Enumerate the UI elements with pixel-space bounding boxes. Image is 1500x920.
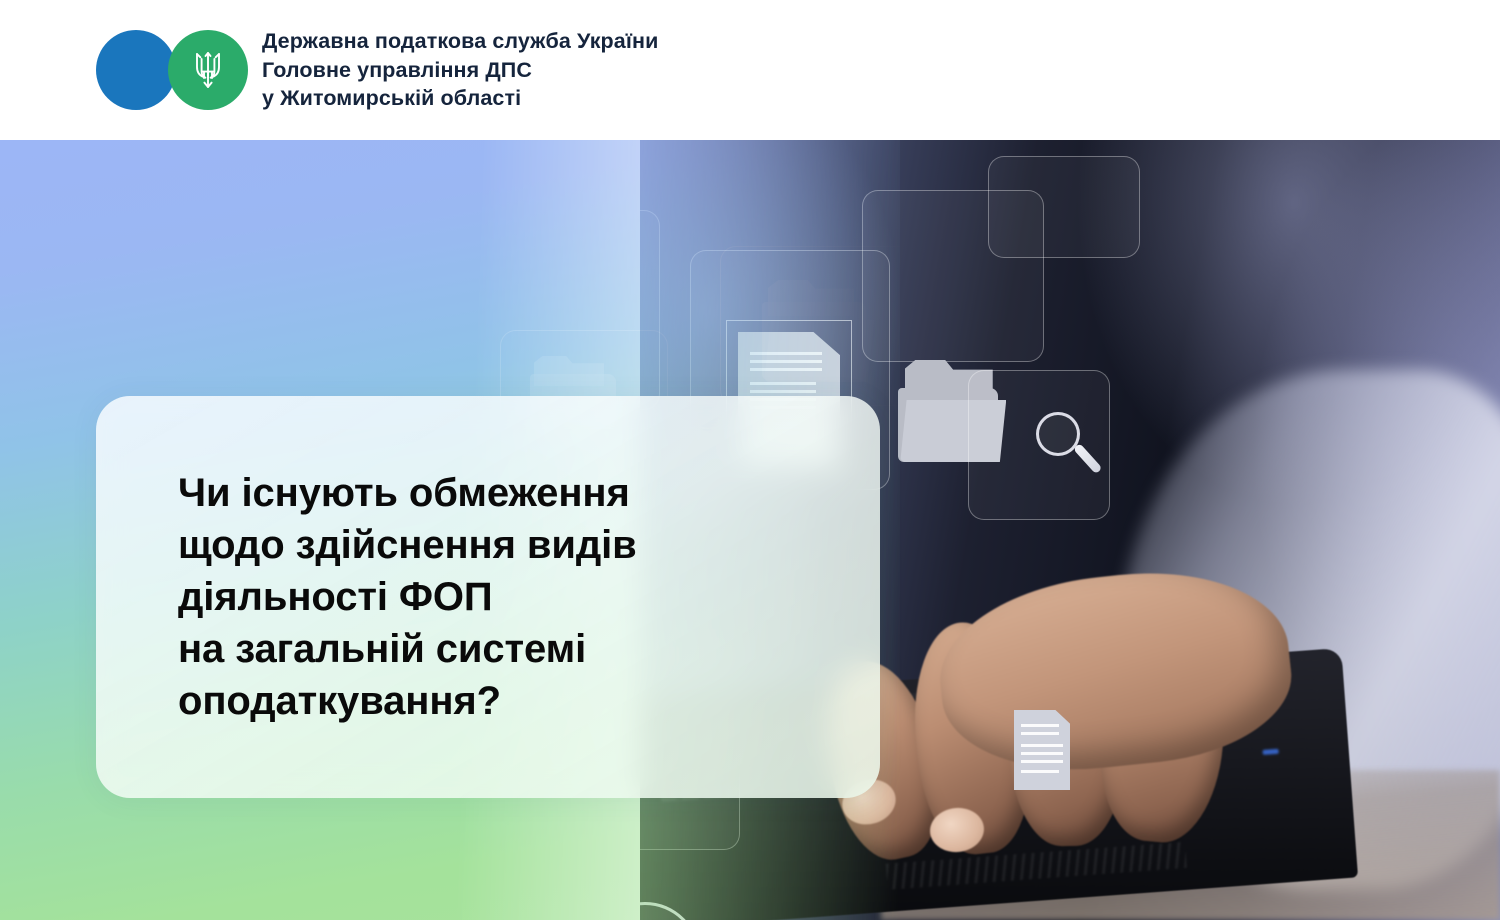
glass-tile [968,370,1110,520]
hero-banner: Чи існують обмеження щодо здійснення вид… [0,140,1500,920]
page-title: Чи існують обмеження щодо здійснення вид… [178,467,637,727]
hand-palm [931,558,1299,784]
banner-page: Державна податкова служба України Головн… [0,0,1500,920]
document-icon [1014,710,1070,790]
logo-green-circle-icon [168,30,248,110]
document-text-lines [1021,770,1059,778]
logo-blue-circle-icon [96,30,176,110]
site-header: Державна податкова служба України Головн… [0,0,1500,140]
document-text-lines [1021,744,1063,765]
document-text-lines [1021,724,1059,737]
glass-tile [988,156,1140,258]
organisation-name-block: Державна податкова служба України Головн… [262,27,658,112]
ukrainian-trident-tryzub-icon [191,47,225,93]
org-line-3: у Житомирській області [262,84,658,112]
dps-logo [96,30,248,110]
folder-front [764,320,874,382]
org-line-1: Державна податкова служба України [262,27,658,55]
org-line-2: Головне управління ДПС [262,56,658,84]
question-card: Чи існують обмеження щодо здійснення вид… [96,396,880,798]
